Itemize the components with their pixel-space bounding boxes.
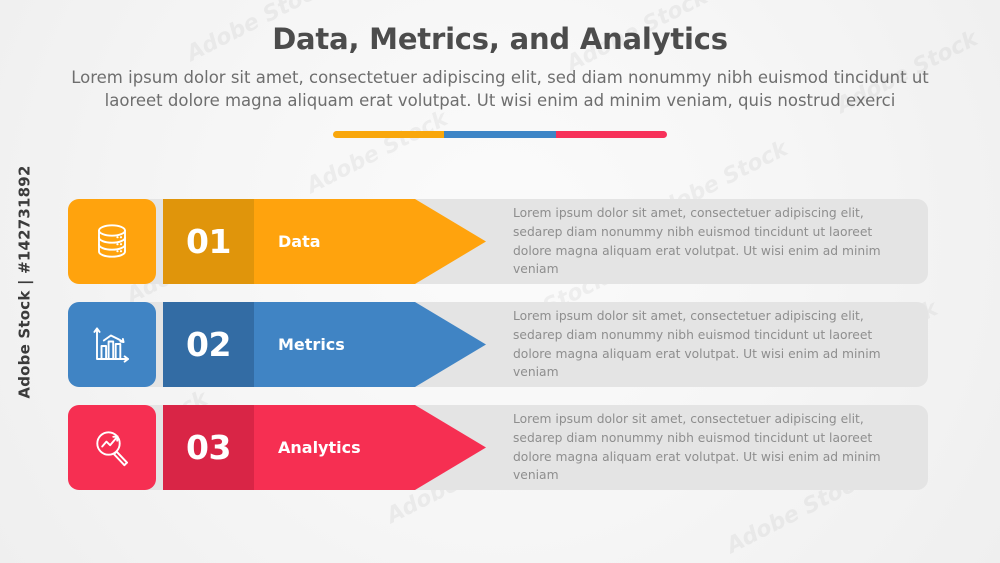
header: Data, Metrics, and Analytics Lorem ipsum… [0, 22, 1000, 113]
step-label: Metrics [278, 335, 345, 354]
step-description-wrap: Lorem ipsum dolor sit amet, consectetuer… [513, 302, 913, 387]
page-subtitle: Lorem ipsum dolor sit amet, consectetuer… [64, 67, 936, 113]
divider-segment-3 [556, 131, 667, 138]
step-arrow[interactable]: 02 Metrics [163, 302, 486, 387]
divider-segment-1 [333, 131, 444, 138]
divider-segment-2 [444, 131, 555, 138]
step-arrow[interactable]: 03 Analytics [163, 405, 486, 490]
step-arrow[interactable]: 01 Data [163, 199, 486, 284]
step-icon-tile[interactable] [68, 302, 156, 387]
tricolor-divider [333, 131, 667, 138]
step-label-wrap: Analytics [278, 405, 361, 490]
step-number: 01 [186, 225, 231, 258]
step-label: Analytics [278, 438, 361, 457]
step-number-block: 02 [163, 302, 254, 387]
step-label: Data [278, 232, 321, 251]
step-row[interactable]: 02 Metrics Lorem ipsum dolor sit amet, c… [0, 302, 1000, 387]
step-description-wrap: Lorem ipsum dolor sit amet, consectetuer… [513, 199, 913, 284]
step-number: 02 [186, 328, 231, 361]
step-description: Lorem ipsum dolor sit amet, consectetuer… [513, 204, 913, 279]
watermark-tile: Adobe Stock [303, 106, 452, 199]
step-label-wrap: Data [278, 199, 321, 284]
step-number-block: 03 [163, 405, 254, 490]
step-number: 03 [186, 431, 231, 464]
step-number-block: 01 [163, 199, 254, 284]
page-title: Data, Metrics, and Analytics [0, 22, 1000, 56]
step-label-wrap: Metrics [278, 302, 345, 387]
steps-list: 01 Data Lorem ipsum dolor sit amet, cons… [0, 199, 1000, 508]
database-icon [90, 220, 134, 264]
step-icon-tile[interactable] [68, 405, 156, 490]
step-icon-tile[interactable] [68, 199, 156, 284]
step-description: Lorem ipsum dolor sit amet, consectetuer… [513, 307, 913, 382]
infographic-canvas: Adobe Stock Adobe Stock Adobe Stock Adob… [0, 0, 1000, 563]
step-description-wrap: Lorem ipsum dolor sit amet, consectetuer… [513, 405, 913, 490]
bar-chart-trend-icon [90, 323, 134, 367]
step-row[interactable]: 03 Analytics Lorem ipsum dolor sit amet,… [0, 405, 1000, 490]
magnifier-trend-icon [90, 426, 134, 470]
step-row[interactable]: 01 Data Lorem ipsum dolor sit amet, cons… [0, 199, 1000, 284]
step-description: Lorem ipsum dolor sit amet, consectetuer… [513, 410, 913, 485]
